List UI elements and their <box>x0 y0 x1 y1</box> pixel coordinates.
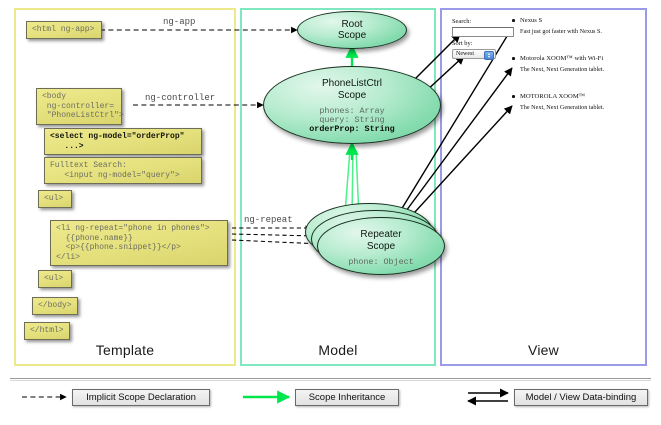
edge-label-ng-controller: ng-controller <box>145 93 215 103</box>
scope-phonelistctrl-title-2: Scope <box>264 90 440 102</box>
search-label: Search: <box>452 18 471 25</box>
sort-select-value: Newest <box>456 51 474 57</box>
panel-model: Model <box>240 8 436 366</box>
sort-select[interactable]: Newest <box>452 49 496 59</box>
scope-repeater-title-1: Repeater <box>318 229 444 241</box>
scope-repeater-title-2: Scope <box>318 241 444 253</box>
phone-name: Nexus S <box>520 17 542 24</box>
code-block-ul-close: <ul> <box>38 270 72 288</box>
code-block-li-repeat: <li ng-repeat="phone in phones"> {{phone… <box>50 220 228 266</box>
edge-label-ng-app: ng-app <box>163 17 195 27</box>
diagram-canvas: Template Model View <box>0 0 661 425</box>
scope-repeater: Repeater Scope phone: Object <box>317 217 445 275</box>
bullet-icon <box>512 19 515 22</box>
phone-name: MOTOROLA XOOM™ <box>520 93 585 100</box>
scope-root-title-2: Scope <box>298 30 406 42</box>
code-block-search-input: Fulltext Search: <input ng-model="query"… <box>44 157 202 184</box>
legend-divider <box>10 378 651 379</box>
phone-snippet: The Next, Next Generation tablet. <box>520 104 604 111</box>
scope-phonelistctrl-prop-orderprop: orderProp: String <box>264 125 440 135</box>
legend-scope-inheritance: Scope Inheritance <box>295 389 399 406</box>
code-block-body-tag: <body ng-controller= "PhoneListCtrl"> <box>36 88 122 125</box>
stepper-icon[interactable] <box>484 51 494 60</box>
legend-arrow-databinding <box>468 393 508 401</box>
scope-phonelistctrl: PhoneListCtrl Scope phones: Array query:… <box>263 66 441 144</box>
code-block-body-close: </body> <box>32 297 78 315</box>
scope-repeater-prop-phone: phone: Object <box>318 258 444 268</box>
code-block-html-close: </html> <box>24 322 70 340</box>
sort-label: Sort by: <box>452 40 472 47</box>
scope-root: Root Scope <box>297 11 407 49</box>
scope-root-title-1: Root <box>298 19 406 31</box>
search-input[interactable] <box>452 27 514 37</box>
edge-label-ng-repeat: ng-repeat <box>244 215 293 225</box>
code-block-ul-open: <ul> <box>38 190 72 208</box>
view-rendered-app: Search: Sort by: Newest Nexus S Fast jus… <box>452 16 636 126</box>
legend-implicit-scope-declaration: Implicit Scope Declaration <box>72 389 210 406</box>
panel-label-model: Model <box>242 342 434 358</box>
phone-snippet: Fast just got faster with Nexus S. <box>520 28 602 35</box>
legend-model-view-data-binding: Model / View Data-binding <box>514 389 648 406</box>
phone-name: Motorola XOOM™ with Wi-Fi <box>520 55 603 62</box>
panel-label-view: View <box>442 342 645 358</box>
code-block-select-tag: <select ng-model="orderProp" ...> <box>44 128 202 155</box>
scope-phonelistctrl-title-1: PhoneListCtrl <box>264 78 440 90</box>
code-block-html-tag: <html ng-app> <box>26 21 102 39</box>
phone-snippet: The Next, Next Generation tablet. <box>520 66 604 73</box>
bullet-icon <box>512 95 515 98</box>
legend-divider-shadow <box>10 380 651 381</box>
panel-label-template: Template <box>16 342 234 358</box>
bullet-icon <box>512 57 515 60</box>
